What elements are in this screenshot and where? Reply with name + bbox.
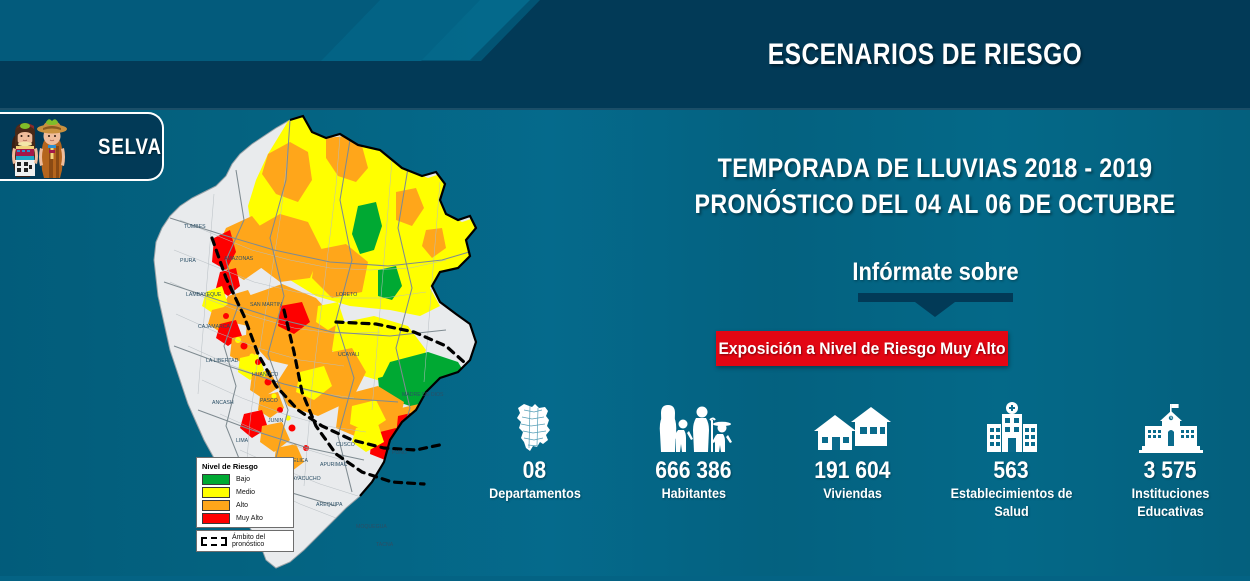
two-andean-amazonian-characters-icon [2, 116, 84, 178]
peru-risk-choropleth: TUMBES PIURA LAMBAYEQUE CAJAMARCA AMAZON… [140, 110, 490, 576]
legend-swatch-bajo [202, 474, 230, 485]
svg-text:LORETO: LORETO [336, 292, 357, 298]
svg-text:AMAZONAS: AMAZONAS [224, 256, 254, 262]
season-line-1: TEMPORADA DE LLUVIAS 2018 - 2019 [664, 150, 1206, 186]
svg-text:ANCASH: ANCASH [212, 400, 234, 406]
stat-instituciones-educativas: 3 575 Instituciones Educativas [1091, 400, 1250, 520]
legend-item-alto: Alto [202, 500, 289, 511]
svg-text:MADRE DE DIOS: MADRE DE DIOS [402, 392, 444, 398]
hospital-icon [981, 400, 1043, 454]
family-people-icon [656, 400, 732, 454]
stat-habitantes: 666 386 Habitantes [614, 400, 773, 502]
stat-label: Habitantes [661, 484, 725, 502]
school-icon [1136, 400, 1206, 454]
legend-item-bajo: Bajo [202, 474, 289, 485]
legend-swatch-muy-alto [202, 513, 230, 524]
legend-label-medio: Medio [236, 489, 255, 496]
svg-text:LA LIBERTAD: LA LIBERTAD [206, 358, 239, 364]
informate-underline-bar [858, 293, 1013, 302]
svg-text:HUANUCO: HUANUCO [252, 372, 278, 378]
legend-label-muy-alto: Muy Alto [236, 515, 263, 522]
informate-label: Infórmate sobre [852, 258, 1018, 287]
svg-text:TACNA: TACNA [376, 542, 394, 548]
legend-risk-levels: Nivel de Riesgo Bajo Medio Alto Muy Alto [196, 457, 294, 528]
legend-label-bajo: Bajo [236, 476, 250, 483]
svg-text:PUNO: PUNO [392, 450, 407, 456]
informate-section: Infórmate sobre [620, 258, 1250, 317]
svg-text:PASCO: PASCO [260, 398, 278, 404]
legend-swatch-medio [202, 487, 230, 498]
stat-value: 191 604 [814, 458, 890, 484]
stat-label: Establecimientos de Salud [940, 484, 1083, 520]
svg-text:UCAYALI: UCAYALI [338, 352, 359, 358]
stat-value: 666 386 [655, 458, 731, 484]
svg-text:CAJAMARCA: CAJAMARCA [198, 324, 231, 330]
stat-label: Viviendas [823, 484, 882, 502]
svg-text:LIMA: LIMA [236, 438, 249, 444]
svg-text:MOQUEGUA: MOQUEGUA [356, 524, 387, 530]
risk-map-peru[interactable]: TUMBES PIURA LAMBAYEQUE CAJAMARCA AMAZON… [140, 110, 490, 576]
svg-text:AREQUIPA: AREQUIPA [316, 502, 343, 508]
stat-label: Departamentos [489, 484, 581, 502]
page-title: ESCENARIOS DE RIESGO [659, 38, 1192, 72]
legend-swatch-scope [201, 537, 227, 546]
stat-value: 563 [994, 458, 1029, 484]
legend-item-medio: Medio [202, 487, 289, 498]
stat-viviendas: 191 604 Viviendas [773, 400, 932, 502]
stat-value: 08 [523, 458, 546, 484]
svg-text:PIURA: PIURA [180, 258, 196, 264]
svg-text:TUMBES: TUMBES [184, 224, 206, 230]
season-line-2: PRONÓSTICO DEL 04 AL 06 DE OCTUBRE [664, 186, 1206, 222]
legend-label-scope: Ámbito del pronóstico [232, 534, 289, 548]
chevron-down-icon [915, 302, 955, 317]
risk-exposure-button[interactable]: Exposición a Nivel de Riesgo Muy Alto [716, 331, 1008, 366]
svg-text:LAMBAYEQUE: LAMBAYEQUE [186, 292, 222, 298]
legend-title: Nivel de Riesgo [202, 462, 289, 471]
svg-text:CUSCO: CUSCO [336, 442, 355, 448]
legend-item-muy-alto: Muy Alto [202, 513, 289, 524]
statistics-row: 08 Departamentos [455, 400, 1250, 520]
svg-text:JUNIN: JUNIN [268, 418, 284, 424]
peru-map-icon [512, 400, 558, 454]
stat-value: 3 575 [1144, 458, 1197, 484]
legend-forecast-scope: Ámbito del pronóstico [196, 530, 294, 552]
svg-text:APURIMAC: APURIMAC [320, 462, 348, 468]
stat-label: Instituciones Educativas [1099, 484, 1242, 520]
houses-icon [813, 400, 893, 454]
legend-swatch-alto [202, 500, 230, 511]
map-legend: Nivel de Riesgo Bajo Medio Alto Muy Alto… [196, 457, 294, 552]
stat-establecimientos-salud: 563 Establecimientos de Salud [932, 400, 1091, 520]
svg-text:SAN MARTIN: SAN MARTIN [250, 302, 282, 308]
legend-label-alto: Alto [236, 502, 248, 509]
risk-exposure-button-label: Exposición a Nivel de Riesgo Muy Alto [718, 339, 1005, 359]
season-heading: TEMPORADA DE LLUVIAS 2018 - 2019 PRONÓST… [620, 150, 1250, 222]
svg-text:AYACUCHO: AYACUCHO [292, 476, 321, 482]
